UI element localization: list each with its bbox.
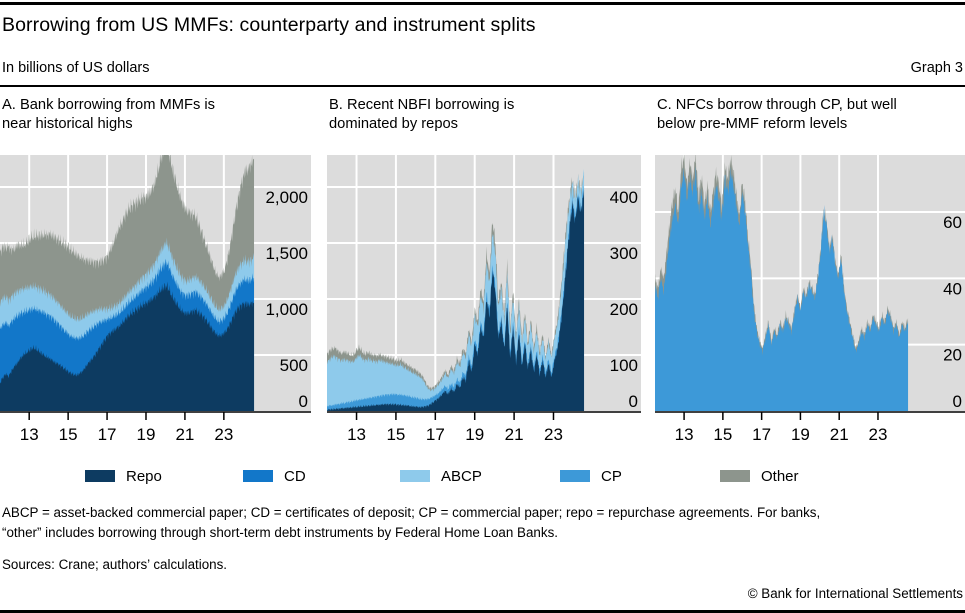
panel-c-title: C. NFCs borrow through CP, but well belo… bbox=[657, 96, 965, 134]
x-tick-label: 17 bbox=[98, 425, 117, 444]
units-subtitle: In billions of US dollars bbox=[2, 60, 150, 76]
legend-swatch-abcp bbox=[400, 470, 430, 482]
y-tick-label: 40 bbox=[943, 279, 962, 298]
graph-page: Borrowing from US MMFs: counterparty and… bbox=[0, 0, 965, 613]
x-tick-label: 13 bbox=[20, 425, 39, 444]
legend-item-cp[interactable]: CP bbox=[560, 466, 622, 486]
panel-c: C. NFCs borrow through CP, but well belo… bbox=[655, 96, 965, 456]
y-tick-label: 400 bbox=[610, 188, 638, 207]
x-tick-label: 15 bbox=[59, 425, 78, 444]
chart-legend: RepoCDABCPCPOther bbox=[0, 466, 965, 488]
y-tick-label: 300 bbox=[610, 244, 638, 263]
legend-label-cp: CP bbox=[601, 468, 622, 485]
x-tick-label: 21 bbox=[175, 425, 194, 444]
y-tick-label: 0 bbox=[299, 392, 308, 411]
legend-item-abcp[interactable]: ABCP bbox=[400, 466, 482, 486]
x-tick-label: 19 bbox=[137, 425, 156, 444]
legend-swatch-other bbox=[720, 470, 750, 482]
x-tick-label: 15 bbox=[386, 425, 405, 444]
x-tick-label: 13 bbox=[675, 425, 694, 444]
y-tick-label: 0 bbox=[629, 392, 638, 411]
legend-label-repo: Repo bbox=[126, 468, 162, 485]
panel-b-title: B. Recent NBFI borrowing is dominated by… bbox=[329, 96, 643, 134]
legend-swatch-cp bbox=[560, 470, 590, 482]
footnote-line-2: “other” includes borrowing through short… bbox=[2, 523, 963, 543]
legend-label-other: Other bbox=[761, 468, 799, 485]
header-rule-top bbox=[0, 2, 965, 5]
x-tick-label: 13 bbox=[347, 425, 366, 444]
legend-swatch-repo bbox=[85, 470, 115, 482]
x-tick-label: 15 bbox=[713, 425, 732, 444]
x-tick-label: 19 bbox=[791, 425, 810, 444]
panels-container: A. Bank borrowing from MMFs is near hist… bbox=[0, 96, 965, 456]
panel-a-title: A. Bank borrowing from MMFs is near hist… bbox=[2, 96, 313, 134]
panel-a: A. Bank borrowing from MMFs is near hist… bbox=[0, 96, 311, 456]
legend-item-cd[interactable]: CD bbox=[243, 466, 306, 486]
x-tick-label: 17 bbox=[426, 425, 445, 444]
legend-swatch-cd bbox=[243, 470, 273, 482]
panel-c-plot: 0204060131517192123 bbox=[655, 155, 965, 445]
subtitle-row: In billions of US dollars Graph 3 bbox=[0, 60, 965, 80]
graph-number: Graph 3 bbox=[911, 60, 963, 76]
x-tick-label: 19 bbox=[465, 425, 484, 444]
legend-item-other[interactable]: Other bbox=[720, 466, 799, 486]
y-tick-label: 500 bbox=[280, 356, 308, 375]
header-rule-bottom bbox=[0, 85, 965, 87]
panel-b: B. Recent NBFI borrowing is dominated by… bbox=[327, 96, 641, 456]
footnote-sources: Sources: Crane; authors’ calculations. bbox=[2, 555, 963, 575]
y-tick-label: 200 bbox=[610, 300, 638, 319]
x-tick-label: 21 bbox=[505, 425, 524, 444]
panel-a-plot: 05001,0001,5002,000131517192123 bbox=[0, 155, 311, 445]
x-tick-label: 23 bbox=[869, 425, 888, 444]
y-tick-label: 2,000 bbox=[265, 188, 308, 207]
y-tick-label: 0 bbox=[953, 392, 962, 411]
footnote-line-1: ABCP = asset-backed commercial paper; CD… bbox=[2, 503, 963, 523]
page-title: Borrowing from US MMFs: counterparty and… bbox=[2, 14, 536, 37]
legend-label-abcp: ABCP bbox=[441, 468, 482, 485]
x-tick-label: 23 bbox=[544, 425, 563, 444]
panel-b-plot: 0100200300400131517192123 bbox=[327, 155, 641, 445]
copyright-notice: © Bank for International Settlements bbox=[748, 586, 963, 601]
y-tick-label: 20 bbox=[943, 346, 962, 365]
y-tick-label: 1,000 bbox=[265, 300, 308, 319]
legend-label-cd: CD bbox=[284, 468, 306, 485]
x-tick-label: 21 bbox=[830, 425, 849, 444]
y-tick-label: 100 bbox=[610, 356, 638, 375]
footnotes: ABCP = asset-backed commercial paper; CD… bbox=[2, 503, 963, 575]
y-tick-label: 60 bbox=[943, 213, 962, 232]
x-tick-label: 17 bbox=[752, 425, 771, 444]
y-tick-label: 1,500 bbox=[265, 244, 308, 263]
legend-item-repo[interactable]: Repo bbox=[85, 466, 162, 486]
x-tick-label: 23 bbox=[214, 425, 233, 444]
